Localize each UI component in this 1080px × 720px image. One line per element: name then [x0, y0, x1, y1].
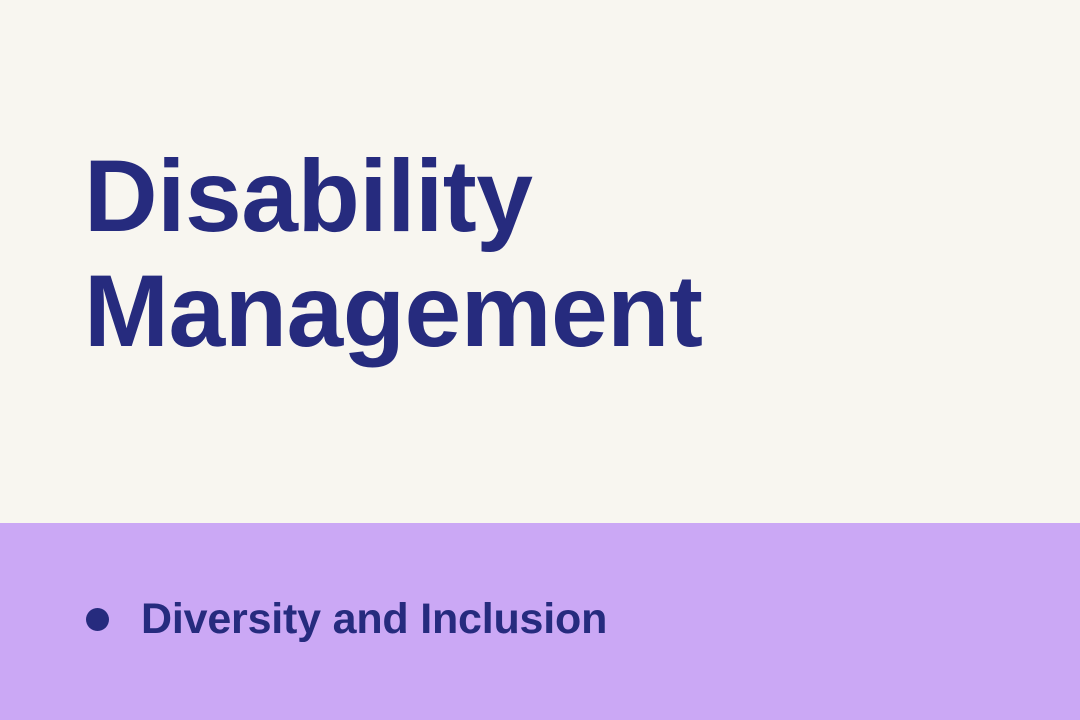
title-region: Disability Management [0, 0, 1080, 523]
list-item-label: Diversity and Inclusion [141, 598, 607, 641]
page-title: Disability Management [84, 139, 984, 370]
presentation-slide: Disability Management Diversity and Incl… [0, 0, 1080, 720]
bullet-dot-icon [86, 608, 109, 631]
list-item: Diversity and Inclusion [86, 598, 607, 641]
highlight-band: Diversity and Inclusion [0, 523, 1080, 720]
